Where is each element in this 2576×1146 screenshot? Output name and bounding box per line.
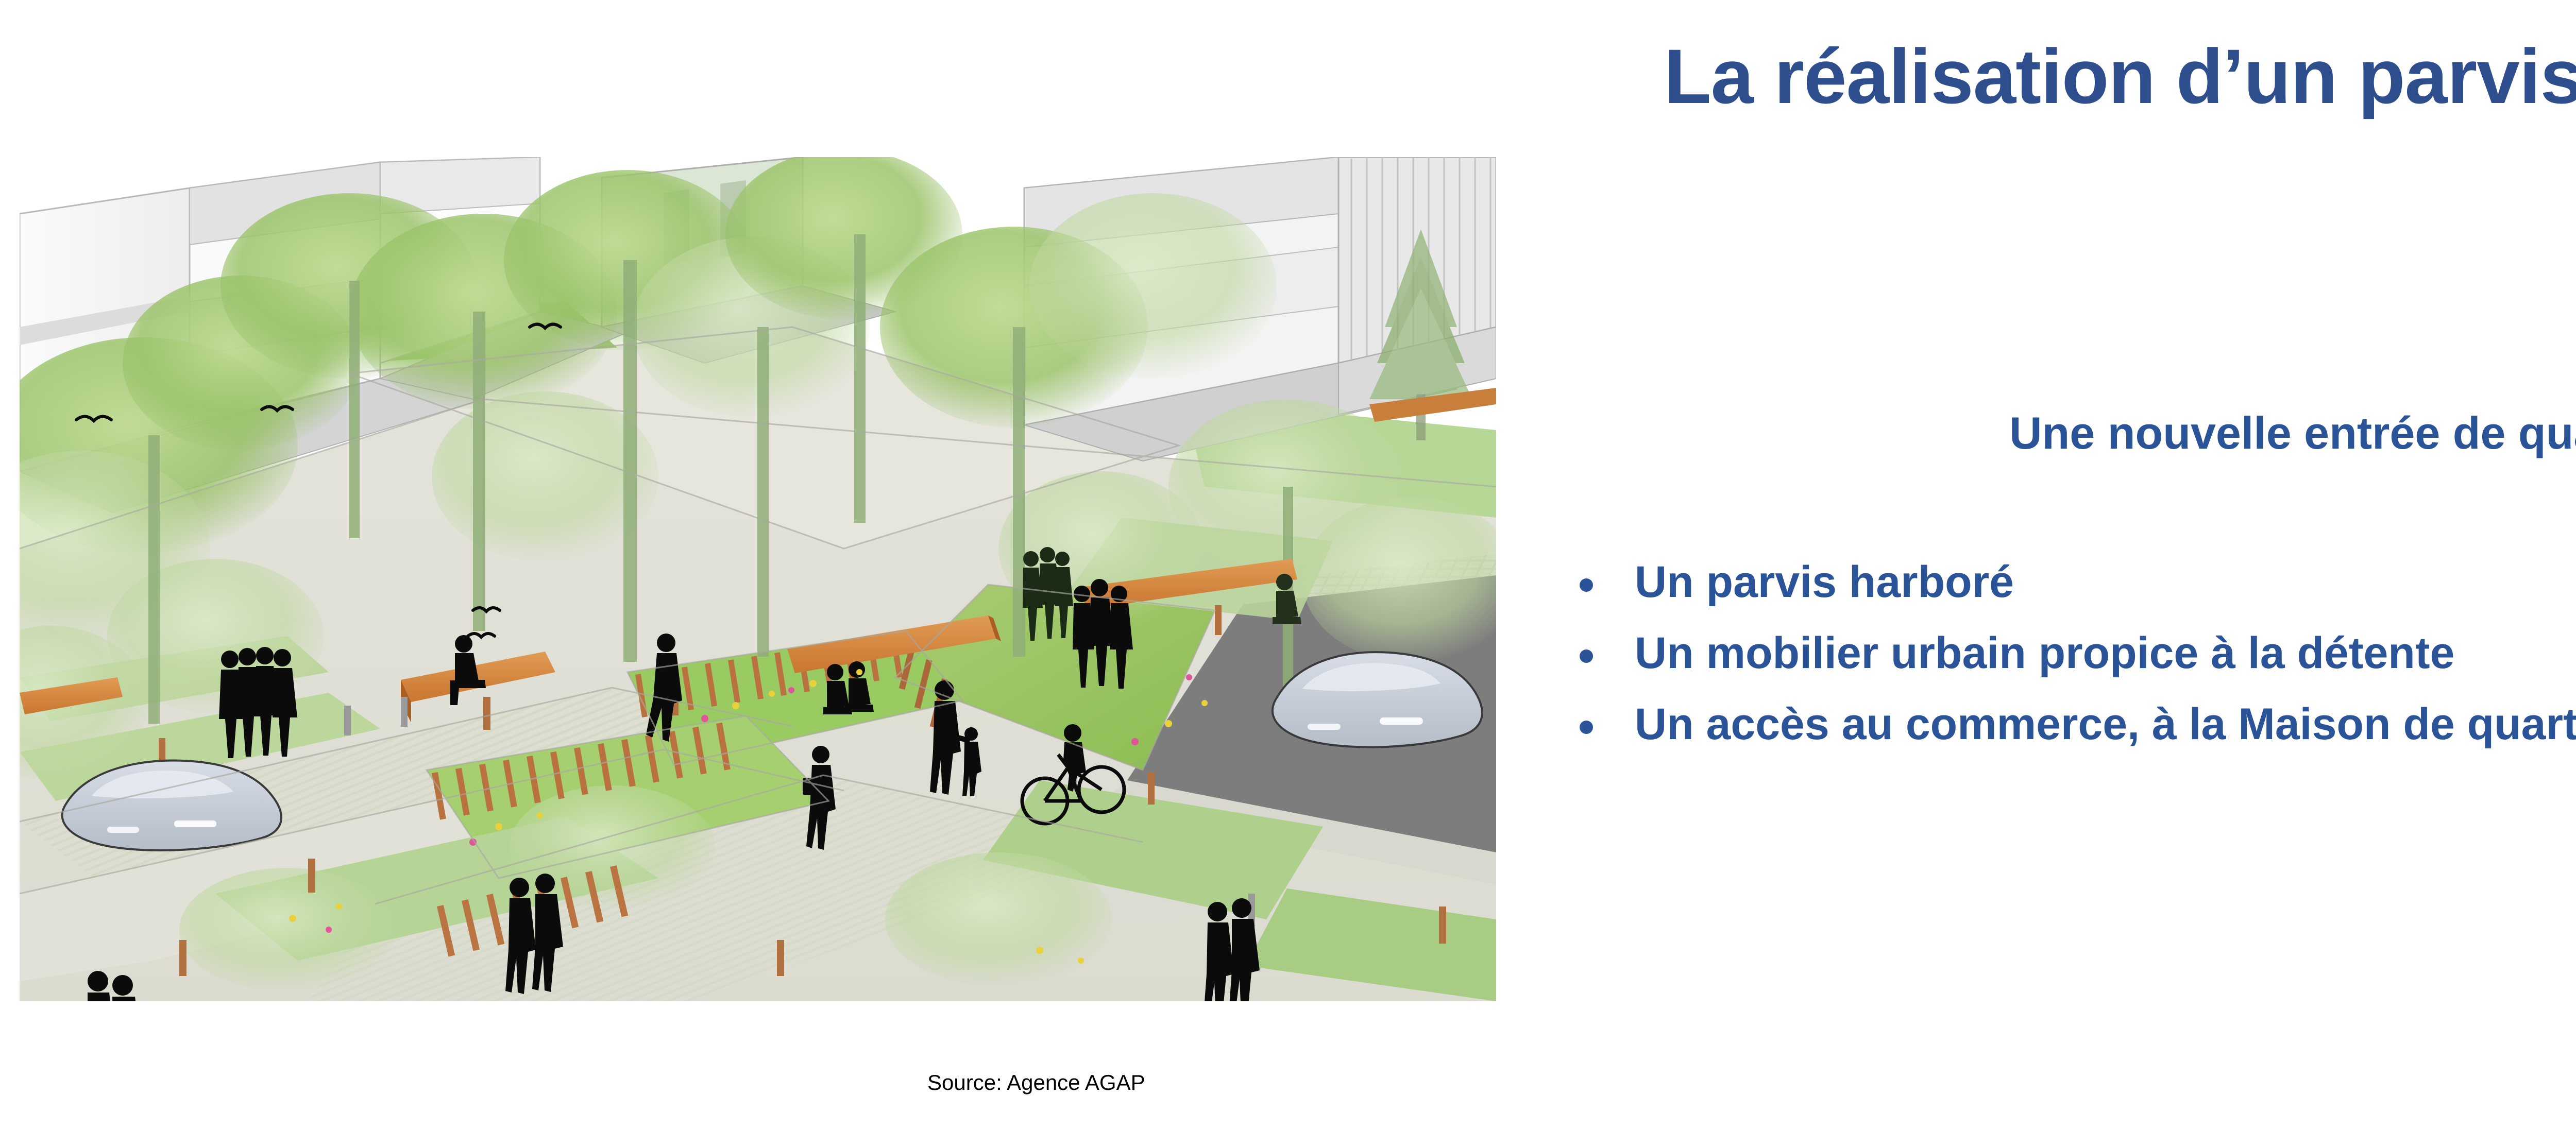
slide-title: La réalisation d’un parvis [1664,36,2576,117]
source-caption: Source: Agence AGAP [927,1070,1145,1095]
bullet-dot-icon [1580,649,1593,663]
bullet-text: Un parvis harboré [1635,557,2014,608]
bullet-item: Un parvis harboré [1571,554,2576,625]
slide-subtitle: Une nouvelle entrée de quartier [2009,407,2576,459]
bullet-dot-icon [1580,578,1593,592]
rendering-svg [20,157,1496,1001]
presentation-slide: La réalisation d’un parvis Une nouvelle … [0,0,2576,1146]
bullet-item: Un mobilier urbain propice à la détente [1571,625,2576,696]
bullet-item: Un accès au commerce, à la Maison de qua… [1571,696,2576,767]
bullet-text: Un mobilier urbain propice à la détente [1635,628,2454,679]
bullet-dot-icon [1580,721,1593,734]
bullet-text: Un accès au commerce, à la Maison de qua… [1635,699,2576,750]
bullet-list: Un parvis harboré Un mobilier urbain pro… [1571,554,2576,767]
architectural-rendering-image [20,157,1496,1001]
